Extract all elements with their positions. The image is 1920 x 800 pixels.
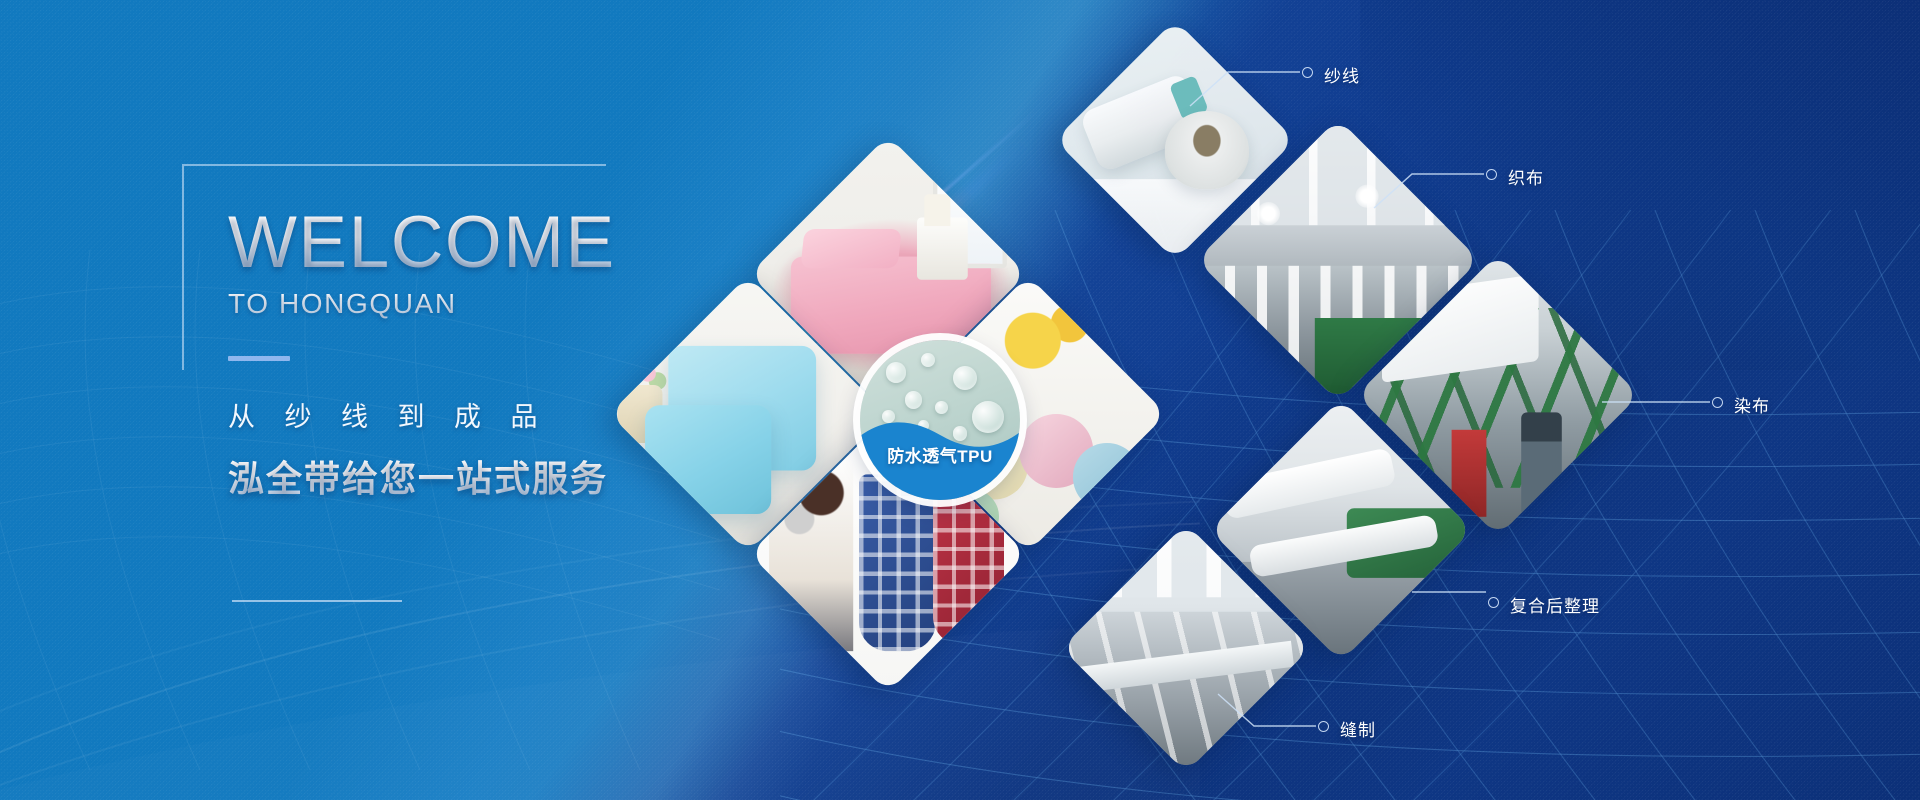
callout-sewing[interactable]: 缝制 <box>1216 692 1546 752</box>
callout-label: 染布 <box>1734 392 1770 417</box>
callout-dot-icon <box>1486 169 1497 180</box>
callout-dyeing[interactable]: 染布 <box>1600 390 1920 430</box>
bottom-rule <box>232 600 402 602</box>
badge-label: 防水透气TPU <box>860 442 1020 467</box>
hero-banner: WELCOME TO HONGQUAN 从 纱 线 到 成 品 泓全带给您一站式… <box>0 0 1920 800</box>
callout-weaving[interactable]: 织布 <box>1372 162 1712 222</box>
callout-dot-icon <box>1488 597 1499 608</box>
callout-leader-line <box>1216 692 1546 752</box>
tpu-badge[interactable]: 防水透气TPU <box>860 340 1020 500</box>
callout-label: 织布 <box>1508 164 1544 189</box>
page-title: WELCOME <box>228 208 788 278</box>
callout-dot-icon <box>1712 397 1723 408</box>
badge-wave-fill <box>860 340 1020 500</box>
callout-yarn[interactable]: 纱线 <box>1188 60 1528 120</box>
callout-label: 缝制 <box>1340 716 1376 741</box>
accent-rule <box>228 356 290 361</box>
callout-label: 复合后整理 <box>1510 592 1600 617</box>
page-subtitle: TO HONGQUAN <box>228 288 788 320</box>
callout-finishing[interactable]: 复合后整理 <box>1410 580 1770 640</box>
callout-label: 纱线 <box>1324 62 1360 87</box>
callout-dot-icon <box>1318 721 1329 732</box>
callout-dot-icon <box>1302 67 1313 78</box>
